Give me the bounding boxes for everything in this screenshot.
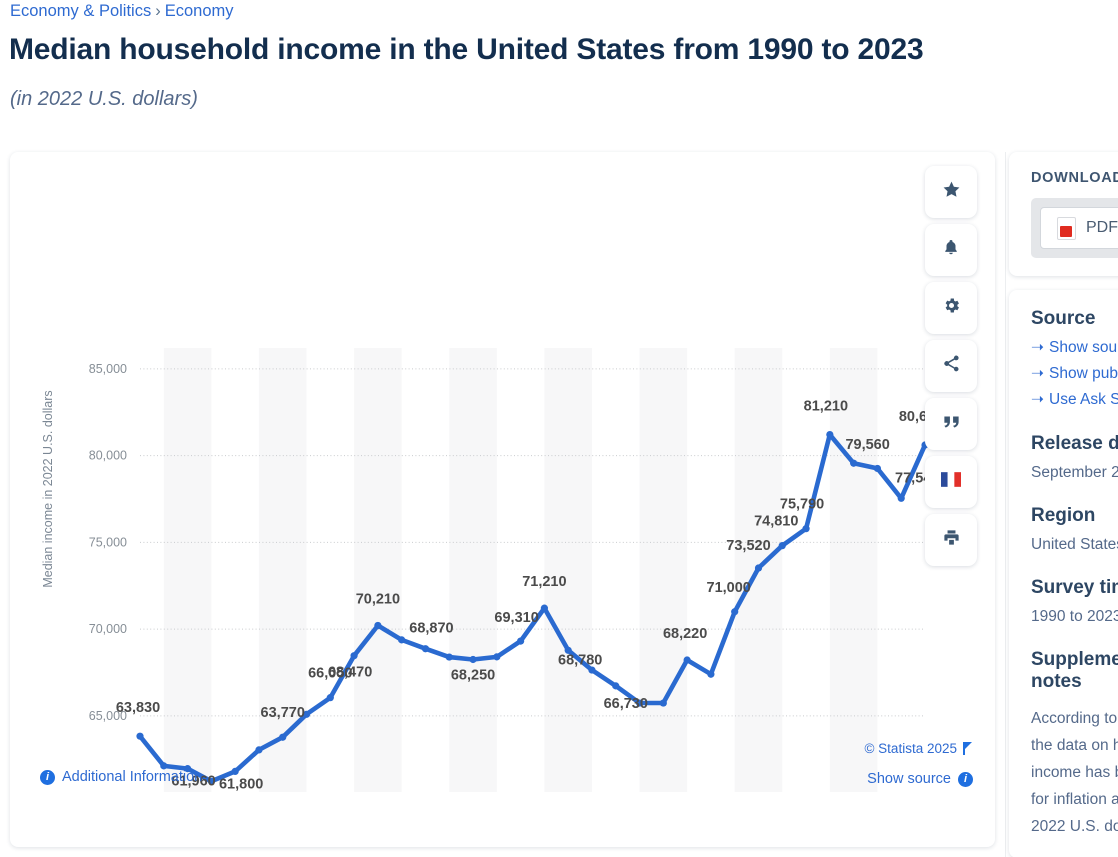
info-icon: i	[40, 770, 55, 785]
copyright-label: © Statista 2025	[864, 741, 957, 756]
show-publisher-link[interactable]: ➝Show publisher information	[1031, 361, 1118, 387]
svg-text:68,470: 68,470	[328, 665, 372, 681]
chart-card-footer: i Additional Information © Statista 2025…	[10, 737, 995, 847]
show-source-sidebar-label: Show source	[1049, 339, 1118, 356]
region-heading: Region	[1031, 505, 1118, 527]
svg-text:80,000: 80,000	[89, 449, 127, 463]
arrow-right-icon: ➝	[1031, 365, 1044, 382]
survey-period-heading: Survey time period	[1031, 577, 1118, 599]
breadcrumb-child-link[interactable]: Economy	[165, 2, 234, 20]
favorite-button[interactable]	[925, 166, 977, 218]
alert-bell-icon	[942, 238, 960, 262]
svg-text:70,210: 70,210	[356, 591, 400, 607]
info-icon: i	[958, 772, 973, 787]
source-details-card: Source ➝Show source ➝Show publisher info…	[1009, 290, 1118, 857]
show-source-sidebar-link[interactable]: ➝Show source	[1031, 335, 1118, 361]
language-button[interactable]	[925, 456, 977, 508]
download-header: DOWNLOAD	[1031, 170, 1118, 186]
settings-gear-icon	[942, 296, 961, 320]
source-heading: Source	[1031, 308, 1118, 330]
share-button[interactable]	[925, 340, 977, 392]
content-divider	[1005, 152, 1006, 857]
svg-text:66,730: 66,730	[604, 696, 648, 712]
svg-text:75,790: 75,790	[780, 497, 824, 513]
svg-text:63,770: 63,770	[261, 705, 305, 721]
ask-statista-label: Use Ask Statista Research Service	[1049, 391, 1118, 408]
svg-text:68,780: 68,780	[558, 652, 602, 668]
y-axis-title: Median income in 2022 U.S. dollars	[41, 359, 55, 619]
svg-text:68,220: 68,220	[663, 626, 707, 642]
chart-action-toolbar	[925, 166, 981, 572]
release-date-value: September 2024	[1031, 460, 1118, 485]
breadcrumb-separator: ›	[155, 2, 161, 20]
svg-text:71,210: 71,210	[522, 574, 566, 590]
breadcrumb-parent-link[interactable]: Economy & Politics	[10, 2, 151, 20]
additional-information-link[interactable]: i Additional Information	[40, 769, 202, 785]
cite-button[interactable]	[925, 398, 977, 450]
print-icon	[942, 528, 961, 552]
breadcrumb: Economy & Politics›Economy	[10, 2, 234, 21]
svg-text:63,830: 63,830	[116, 700, 160, 716]
chart-plot-area[interactable]: 60,00065,00070,00075,00080,00085,0001990…	[10, 152, 995, 792]
supplementary-notes-text: According to the source, the data on hou…	[1031, 705, 1118, 840]
svg-text:85,000: 85,000	[89, 362, 127, 376]
show-source-link[interactable]: Show source i	[867, 771, 973, 787]
favorite-star-icon	[942, 180, 961, 204]
svg-text:73,520: 73,520	[726, 538, 770, 554]
survey-period-value: 1990 to 2023	[1031, 604, 1118, 629]
citation-quote-icon	[942, 414, 961, 435]
svg-text:79,560: 79,560	[845, 437, 889, 453]
svg-text:68,250: 68,250	[451, 667, 495, 683]
download-card: DOWNLOAD PDF	[1009, 152, 1118, 276]
svg-text:70,000: 70,000	[89, 622, 127, 636]
download-pdf-button[interactable]: PDF	[1040, 207, 1118, 249]
copyright-notice: © Statista 2025	[864, 741, 973, 756]
svg-text:71,000: 71,000	[707, 580, 751, 596]
svg-text:69,310: 69,310	[494, 610, 538, 626]
svg-text:75,000: 75,000	[89, 535, 127, 549]
download-pdf-label: PDF	[1086, 219, 1118, 237]
show-source-label: Show source	[867, 771, 951, 787]
svg-text:74,810: 74,810	[754, 514, 798, 530]
chart-card: 60,00065,00070,00075,00080,00085,0001990…	[10, 152, 995, 847]
share-icon	[942, 354, 961, 378]
arrow-right-icon: ➝	[1031, 339, 1044, 356]
page-title: Median household income in the United St…	[9, 33, 923, 67]
arrow-right-icon: ➝	[1031, 391, 1044, 408]
page-subtitle: (in 2022 U.S. dollars)	[10, 88, 198, 111]
alert-button[interactable]	[925, 224, 977, 276]
show-publisher-label: Show publisher information	[1049, 365, 1118, 382]
svg-text:68,870: 68,870	[409, 621, 453, 637]
additional-information-label: Additional Information	[62, 769, 202, 785]
pdf-file-icon	[1057, 217, 1076, 240]
info-sidebar: DOWNLOAD PDF Source ➝Show source ➝Show p…	[1009, 152, 1118, 857]
region-value: United States	[1031, 532, 1118, 557]
release-date-heading: Release date	[1031, 433, 1118, 455]
settings-button[interactable]	[925, 282, 977, 334]
supplementary-notes-heading: Supplementary notes	[1031, 649, 1118, 693]
line-chart: 60,00065,00070,00075,00080,00085,0001990…	[10, 152, 995, 792]
statista-flag-icon	[963, 742, 973, 755]
svg-text:81,210: 81,210	[804, 399, 848, 415]
download-options-row: PDF	[1031, 198, 1118, 258]
print-button[interactable]	[925, 514, 977, 566]
ask-statista-link[interactable]: ➝Use Ask Statista Research Service	[1031, 387, 1118, 413]
french-flag-icon	[941, 472, 961, 492]
